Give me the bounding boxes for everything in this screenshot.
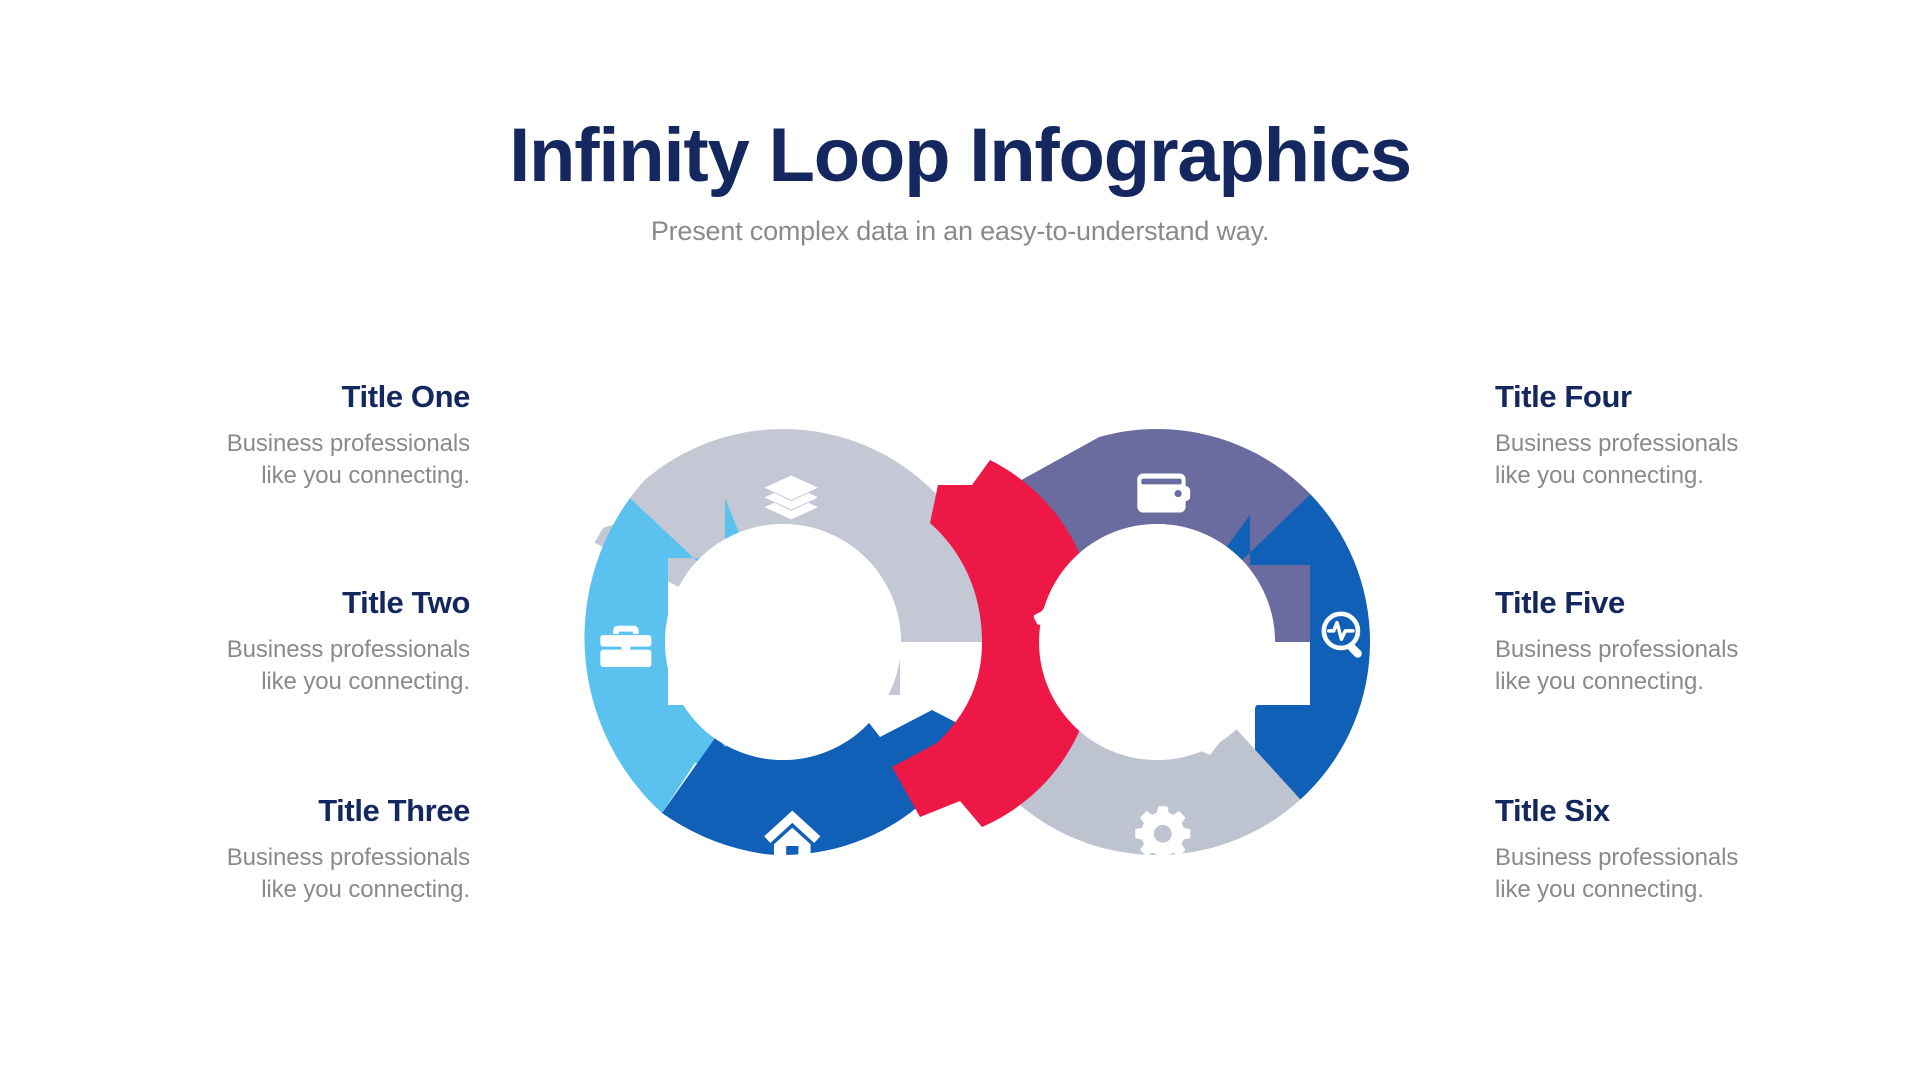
left-ring-hole [665, 524, 901, 760]
entry-description-line1: Business professionals [227, 636, 470, 663]
entry-description: Business professionals like you connecti… [140, 842, 470, 906]
entry-title-four[interactable]: Title Four Business professionals like y… [1495, 380, 1825, 492]
entry-description-line1: Business professionals [227, 430, 470, 457]
entry-description-line2: like you connecting. [261, 876, 470, 903]
right-ring-hole [1039, 524, 1275, 760]
entry-description-line1: Business professionals [1495, 844, 1738, 871]
entry-title-label: Title Five [1495, 586, 1825, 620]
entry-description: Business professionals like you connecti… [140, 634, 470, 698]
entry-title-six[interactable]: Title Six Business professionals like yo… [1495, 794, 1825, 906]
infinity-loop-diagram [520, 365, 1420, 925]
entry-description-line2: like you connecting. [1495, 668, 1704, 695]
gear-icon [1135, 806, 1190, 861]
entry-description: Business professionals like you connecti… [1495, 634, 1825, 698]
slide-root: Infinity Loop Infographics Present compl… [0, 0, 1920, 1080]
entry-description-line2: like you connecting. [261, 462, 470, 489]
page-subtitle: Present complex data in an easy-to-under… [0, 216, 1920, 247]
entry-title-label: Title Three [140, 794, 470, 828]
entry-description: Business professionals like you connecti… [1495, 842, 1825, 906]
entry-title-three[interactable]: Title Three Business professionals like … [140, 794, 470, 906]
entry-description-line1: Business professionals [227, 844, 470, 871]
entry-description-line2: like you connecting. [1495, 876, 1704, 903]
entry-title-one[interactable]: Title One Business professionals like yo… [140, 380, 470, 492]
entry-title-label: Title One [140, 380, 470, 414]
entry-description-line2: like you connecting. [261, 668, 470, 695]
entry-description-line1: Business professionals [1495, 430, 1738, 457]
wallet-icon [1137, 473, 1190, 512]
entry-title-five[interactable]: Title Five Business professionals like y… [1495, 586, 1825, 698]
entry-title-label: Title Two [140, 586, 470, 620]
entry-title-label: Title Six [1495, 794, 1825, 828]
entry-description: Business professionals like you connecti… [140, 428, 470, 492]
page-title: Infinity Loop Infographics [0, 118, 1920, 194]
entry-description: Business professionals like you connecti… [1495, 428, 1825, 492]
entry-title-label: Title Four [1495, 380, 1825, 414]
entry-title-two[interactable]: Title Two Business professionals like yo… [140, 586, 470, 698]
entry-description-line2: like you connecting. [1495, 462, 1704, 489]
header: Infinity Loop Infographics Present compl… [0, 118, 1920, 247]
entry-description-line1: Business professionals [1495, 636, 1738, 663]
